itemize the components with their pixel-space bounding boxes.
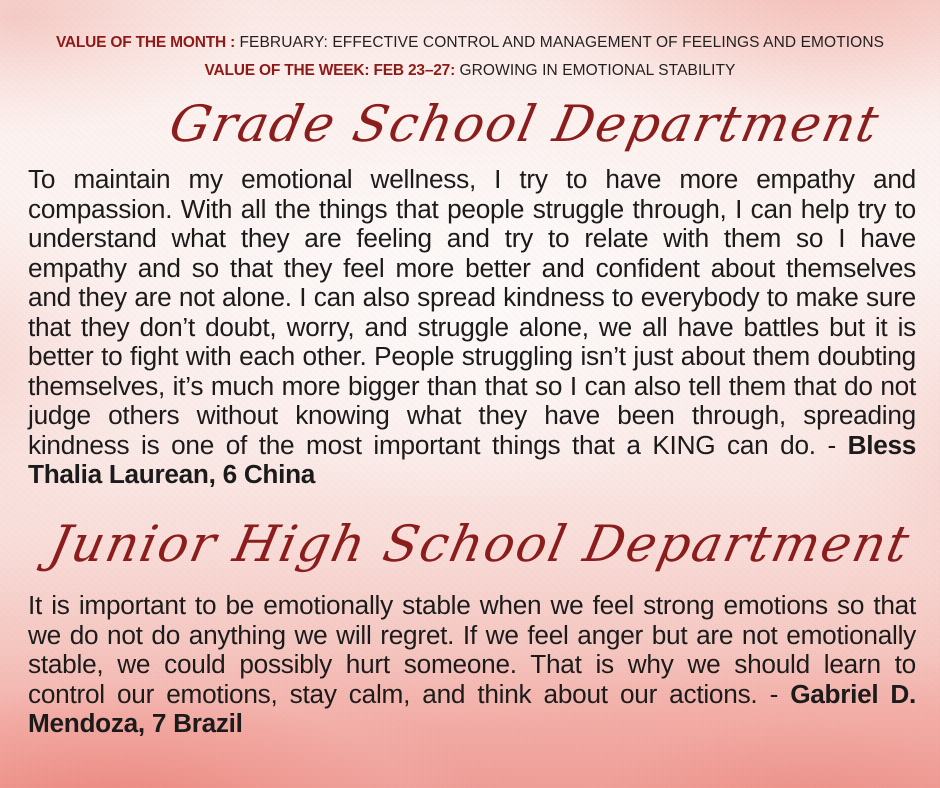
value-of-the-month-line: VALUE OF THE MONTH : FEBRUARY: EFFECTIVE… — [40, 33, 900, 53]
junior-high-school-department-heading: Junior High School Department — [0, 519, 940, 569]
value-of-the-month-value: FEBRUARY: EFFECTIVE CONTROL AND MANAGEME… — [235, 34, 884, 51]
poster-canvas: VALUE OF THE MONTH : FEBRUARY: EFFECTIVE… — [0, 0, 940, 788]
value-of-the-month-label: VALUE OF THE MONTH : — [56, 34, 235, 51]
junior-high-testimonial: It is important to be emotionally stable… — [0, 591, 940, 738]
value-of-the-week-line: VALUE OF THE WEEK: FEB 23–27: GROWING IN… — [40, 61, 900, 81]
grade-school-testimonial: To maintain my emotional wellness, I try… — [0, 165, 940, 489]
value-of-the-week-value: GROWING IN EMOTIONAL STABILITY — [455, 62, 735, 79]
poster-content: VALUE OF THE MONTH : FEBRUARY: EFFECTIVE… — [0, 0, 940, 788]
value-of-the-week-label: VALUE OF THE WEEK: FEB 23–27: — [205, 62, 456, 79]
grade-school-department-heading: Grade School Department — [0, 99, 940, 149]
header-block: VALUE OF THE MONTH : FEBRUARY: EFFECTIVE… — [0, 0, 940, 81]
junior-high-testimonial-body: It is important to be emotionally stable… — [28, 590, 916, 708]
grade-school-testimonial-body: To maintain my emotional wellness, I try… — [28, 164, 916, 459]
